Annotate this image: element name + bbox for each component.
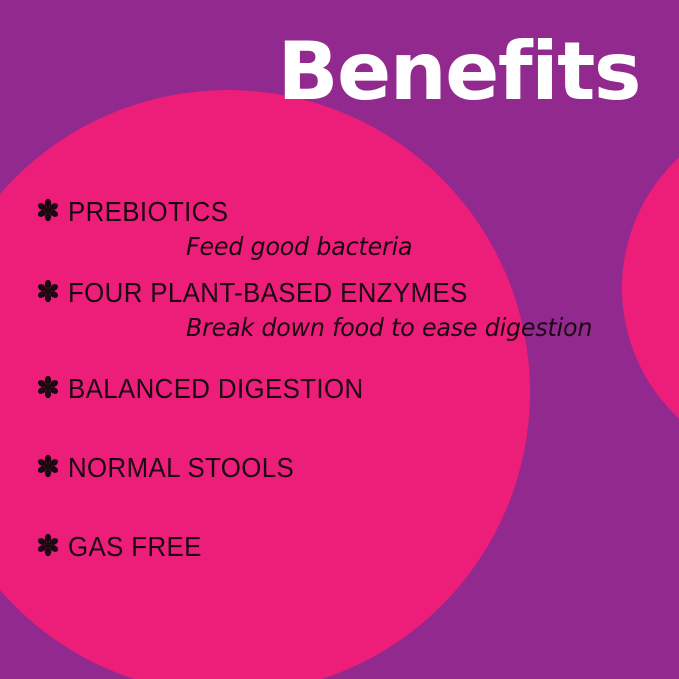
- flower-asterisk-icon: [36, 454, 60, 484]
- benefit-row: FOUR PLANT-BASED ENZYMES: [36, 277, 656, 309]
- benefit-row: PREBIOTICS: [36, 196, 656, 228]
- benefit-label: PREBIOTICS: [68, 196, 228, 228]
- benefit-row: NORMAL STOOLS: [36, 452, 656, 484]
- benefit-label: FOUR PLANT-BASED ENZYMES: [68, 277, 468, 309]
- spacer: [36, 262, 656, 277]
- spacer: [36, 405, 656, 452]
- page-title: Benefits: [0, 26, 679, 118]
- benefit-subtext: Feed good bacteria: [186, 231, 633, 262]
- list-item: PREBIOTICS Feed good bacteria: [36, 196, 656, 262]
- list-item: FOUR PLANT-BASED ENZYMES Break down food…: [36, 277, 656, 343]
- list-item: NORMAL STOOLS: [36, 452, 656, 484]
- flower-asterisk-icon: [36, 375, 60, 405]
- flower-asterisk-icon: [36, 533, 60, 563]
- benefit-row: GAS FREE: [36, 531, 656, 563]
- flower-asterisk-icon: [36, 279, 60, 309]
- benefit-label: GAS FREE: [68, 531, 202, 563]
- list-item: GAS FREE: [36, 531, 656, 563]
- spacer: [36, 484, 656, 531]
- benefits-graphic: Benefits: [0, 0, 679, 679]
- benefit-label: NORMAL STOOLS: [68, 452, 294, 484]
- benefit-label: BALANCED DIGESTION: [68, 373, 363, 405]
- benefits-list: PREBIOTICS Feed good bacteria: [36, 196, 656, 563]
- benefit-row: BALANCED DIGESTION: [36, 373, 656, 405]
- benefit-subtext: Break down food to ease digestion: [186, 312, 633, 343]
- list-item: BALANCED DIGESTION: [36, 373, 656, 405]
- flower-asterisk-icon: [36, 198, 60, 228]
- spacer: [36, 343, 656, 373]
